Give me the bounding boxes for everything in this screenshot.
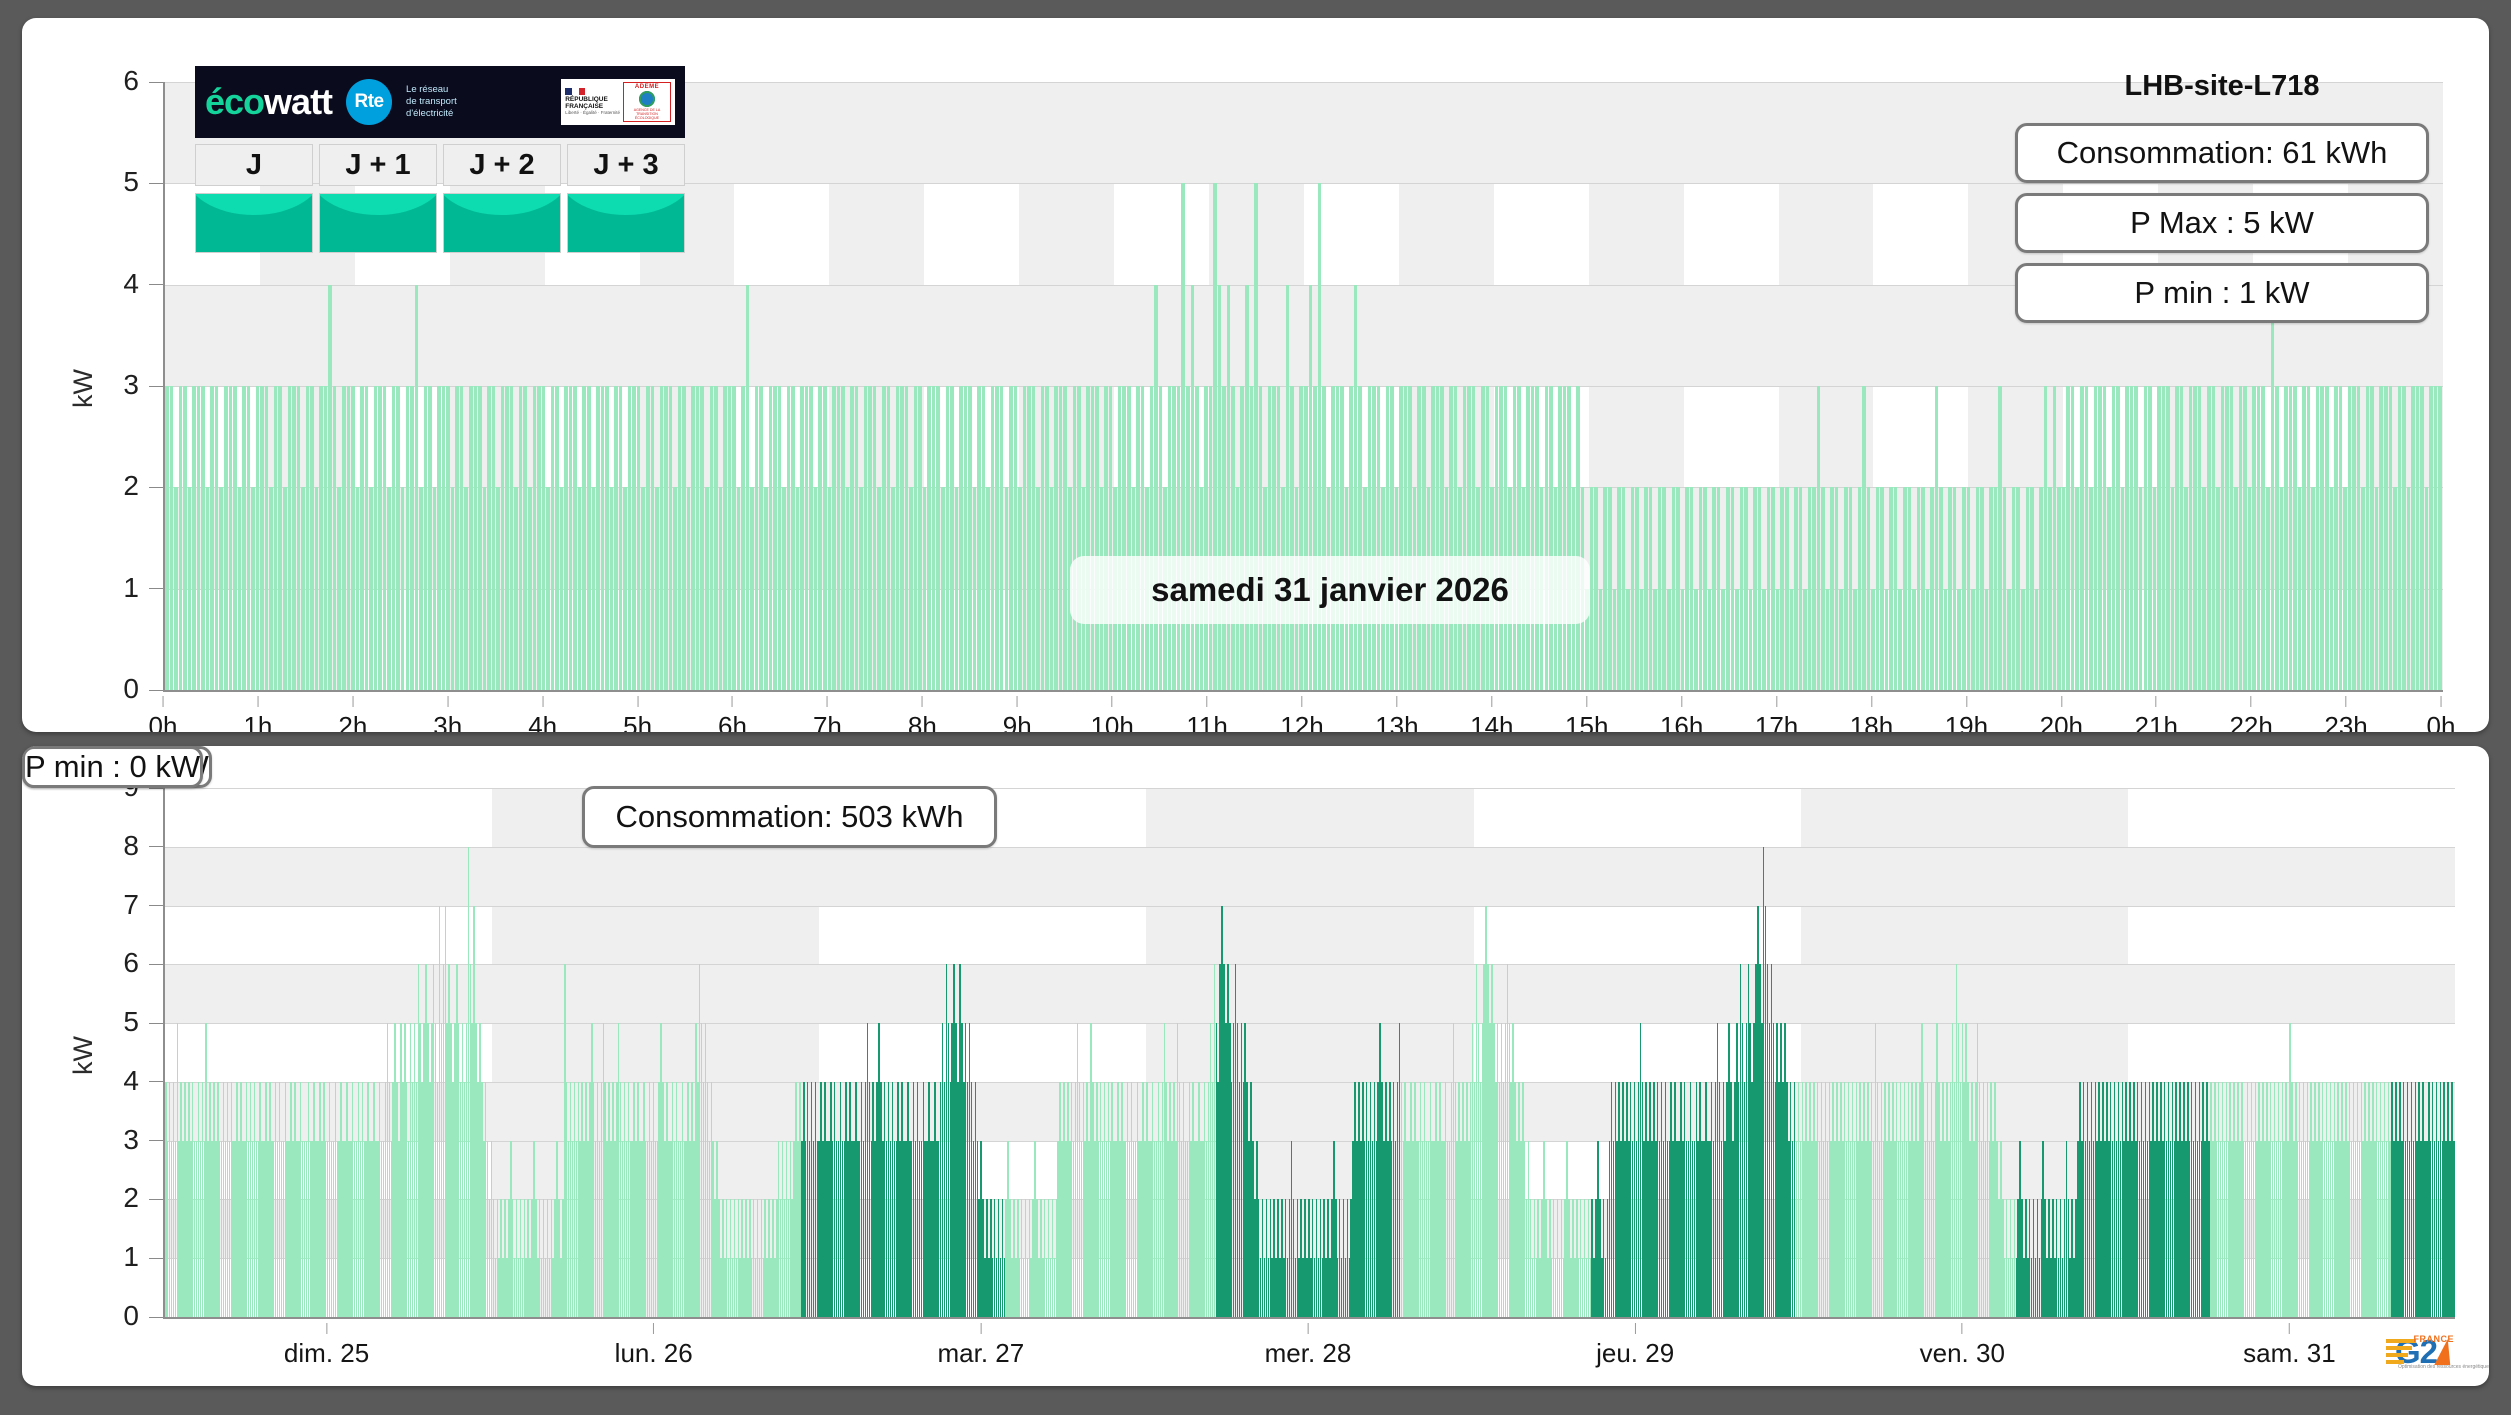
bar xyxy=(1014,386,1018,690)
bar xyxy=(247,386,251,690)
x-tick: 20h xyxy=(2040,696,2083,732)
x-tick-label: 17h xyxy=(1755,711,1798,732)
ecowatt-day-0[interactable]: J xyxy=(195,144,313,253)
bar xyxy=(523,386,527,690)
bar xyxy=(1876,487,1880,690)
republique-francaise-logo: RÉPUBLIQUE FRANÇAISE Liberté · Égalité ·… xyxy=(565,88,620,116)
x-tick-mark xyxy=(2289,1323,2290,1334)
x-tick-mark xyxy=(1871,696,1872,707)
bar xyxy=(623,487,627,690)
bar xyxy=(632,386,636,690)
bar xyxy=(2334,386,2338,690)
bar xyxy=(769,386,773,690)
x-tick-label: 11h xyxy=(1186,711,1227,732)
bar xyxy=(719,487,723,690)
bar xyxy=(1608,487,1612,690)
bar xyxy=(1935,386,1939,690)
ademe-label: ADEME xyxy=(625,84,669,90)
bar xyxy=(1377,386,1381,690)
bar xyxy=(437,386,441,690)
bar xyxy=(2230,386,2234,690)
y-tick-label: 5 xyxy=(123,1008,143,1036)
bar xyxy=(1399,386,1403,690)
bar xyxy=(356,487,360,690)
bar xyxy=(1191,285,1195,690)
bar xyxy=(578,487,582,690)
bar xyxy=(183,386,187,690)
x-tick-label: 21h xyxy=(2135,711,2178,732)
bar xyxy=(1290,386,1294,690)
bar xyxy=(905,386,909,690)
bar xyxy=(700,386,704,690)
bar xyxy=(469,386,473,690)
g2-france-logo[interactable]: G2 FRANCE Optimisation des ressources én… xyxy=(2386,1332,2463,1372)
bar xyxy=(2402,386,2406,690)
bar xyxy=(1467,386,1471,690)
y-tick-mark xyxy=(149,1258,163,1259)
bar xyxy=(269,487,273,690)
top-consommation-box[interactable]: Consommation: 61 kWh xyxy=(2015,123,2429,183)
bar xyxy=(2016,487,2020,690)
bar xyxy=(1635,487,1639,690)
bar xyxy=(1045,386,1049,690)
bar xyxy=(859,487,863,690)
bar xyxy=(1218,285,1222,690)
bar xyxy=(1313,386,1317,690)
bar xyxy=(2330,487,2334,690)
y-tick-label: 0 xyxy=(123,1302,143,1330)
ecowatt-banner: écowatt Rte Le réseau de transport d'éle… xyxy=(195,66,685,138)
bar xyxy=(1735,589,1739,690)
bar xyxy=(1694,589,1698,690)
bar xyxy=(206,487,210,690)
bar xyxy=(877,487,881,690)
bar xyxy=(682,386,686,690)
bar xyxy=(514,487,518,690)
bar xyxy=(1449,386,1453,690)
bar xyxy=(687,487,691,690)
ecowatt-day-label: J xyxy=(195,144,313,186)
bar xyxy=(973,487,977,690)
x-tick-mark xyxy=(1491,696,1492,707)
x-axis-top: 0h1h2h3h4h5h6h7h8h9h10h11h12h13h14h15h16… xyxy=(163,696,2441,732)
bar xyxy=(1603,487,1607,690)
bar xyxy=(2411,386,2415,690)
x-tick-mark xyxy=(1966,696,1967,707)
bar xyxy=(365,386,369,690)
bar xyxy=(1417,386,1421,690)
bar xyxy=(378,386,382,690)
ecowatt-logo-watt: watt xyxy=(264,81,332,122)
x-tick: 3h xyxy=(433,696,462,732)
bar xyxy=(1744,487,1748,690)
bar xyxy=(2325,386,2329,690)
bar xyxy=(474,386,478,690)
bar xyxy=(619,386,623,690)
bar xyxy=(219,487,223,690)
bar xyxy=(1953,487,1957,690)
bar xyxy=(1644,487,1648,690)
x-tick: ven. 30 xyxy=(1920,1323,2005,1369)
bar xyxy=(1268,386,1272,690)
y-tick-label: 6 xyxy=(123,67,143,95)
bar xyxy=(360,386,364,690)
top-pmax-box[interactable]: P Max : 5 kW xyxy=(2015,193,2429,253)
bar xyxy=(1858,487,1862,690)
bar xyxy=(1018,487,1022,690)
x-tick-mark xyxy=(2156,696,2157,707)
bar xyxy=(2202,487,2206,690)
bar xyxy=(669,386,673,690)
bar xyxy=(1172,386,1176,690)
bar xyxy=(1658,487,1662,690)
bar xyxy=(555,386,559,690)
bar xyxy=(2193,386,2197,690)
bar xyxy=(2107,487,2111,690)
bar xyxy=(678,386,682,690)
x-tick: 5h xyxy=(623,696,652,732)
x-tick-mark xyxy=(980,1323,981,1334)
bar xyxy=(900,386,904,690)
x-tick-label: mer. 28 xyxy=(1265,1338,1352,1369)
bar xyxy=(1835,487,1839,690)
bar xyxy=(573,386,577,690)
x-tick-label: 20h xyxy=(2040,711,2083,732)
x-tick: 0h xyxy=(2427,696,2456,732)
bar xyxy=(1077,386,1081,690)
bar xyxy=(460,386,464,690)
bar xyxy=(560,487,564,690)
bar xyxy=(1431,386,1435,690)
x-tick-mark xyxy=(637,696,638,707)
bar xyxy=(601,386,605,690)
top-pmin-box[interactable]: P min : 1 kW xyxy=(2015,263,2429,323)
bar xyxy=(1204,386,1208,690)
bar xyxy=(1640,589,1644,690)
bar xyxy=(1118,386,1122,690)
bar xyxy=(1486,386,1490,690)
bar xyxy=(1073,386,1077,690)
bar xyxy=(1826,589,1830,690)
bar xyxy=(1386,386,1390,690)
bar xyxy=(1558,386,1562,690)
ecowatt-day-3[interactable]: J + 3 xyxy=(567,144,685,253)
bar xyxy=(2453,1141,2455,1317)
bar xyxy=(723,386,727,690)
ecowatt-day-1[interactable]: J + 1 xyxy=(319,144,437,253)
bar xyxy=(1803,589,1807,690)
bar xyxy=(977,386,981,690)
bar xyxy=(896,386,900,690)
bar xyxy=(306,386,310,690)
bar xyxy=(424,386,428,690)
bar xyxy=(2352,386,2356,690)
ecowatt-day-label: J + 2 xyxy=(443,144,561,186)
y-tick-mark xyxy=(149,1317,163,1318)
bar xyxy=(1286,285,1290,690)
bar xyxy=(1762,589,1766,690)
y-tick-label: 2 xyxy=(123,472,143,500)
ecowatt-day-label: J + 1 xyxy=(319,144,437,186)
x-tick-mark xyxy=(1396,696,1397,707)
x-tick-mark xyxy=(162,696,163,707)
bar xyxy=(846,487,850,690)
x-tick-label: 3h xyxy=(433,711,462,732)
bar xyxy=(1322,386,1326,690)
bar xyxy=(428,386,432,690)
bar xyxy=(2307,386,2311,690)
bar xyxy=(2271,285,2275,690)
bar xyxy=(1354,285,1358,690)
bar xyxy=(1799,487,1803,690)
bar xyxy=(2438,386,2442,690)
bar xyxy=(2139,487,2143,690)
bar xyxy=(1027,386,1031,690)
bar xyxy=(592,487,596,690)
bar xyxy=(2384,386,2388,690)
bar xyxy=(1209,386,1213,690)
x-tick-label: mar. 27 xyxy=(937,1338,1024,1369)
y-tick-mark xyxy=(149,1140,163,1141)
bar xyxy=(1227,285,1231,690)
bar xyxy=(1023,386,1027,690)
bar xyxy=(1957,589,1961,690)
bar xyxy=(1091,386,1095,690)
bar xyxy=(2044,386,2048,690)
bar xyxy=(2393,487,2397,690)
bar xyxy=(2311,487,2315,690)
bar xyxy=(1681,589,1685,690)
bar xyxy=(1331,386,1335,690)
bar xyxy=(746,285,750,690)
bar xyxy=(1349,386,1353,690)
dashboard-page: kW 0123456 0h1h2h3h4h5h6h7h8h9h10h11h12h… xyxy=(0,0,2511,1415)
bar xyxy=(347,386,351,690)
bar xyxy=(1708,589,1712,690)
bar xyxy=(1726,487,1730,690)
y-axis-top: 0123456 xyxy=(63,82,163,690)
bar xyxy=(2007,589,2011,690)
x-tick-mark xyxy=(653,1323,654,1334)
bar xyxy=(410,386,414,690)
bar xyxy=(1390,386,1394,690)
bar xyxy=(1177,386,1181,690)
bar xyxy=(1168,386,1172,690)
bar xyxy=(1159,386,1163,690)
x-tick-label: 10h xyxy=(1090,711,1133,732)
republique-line1: RÉPUBLIQUE xyxy=(565,96,620,103)
bar xyxy=(2216,487,2220,690)
bar xyxy=(2275,386,2279,690)
y-tick-mark xyxy=(149,82,163,83)
bar xyxy=(914,386,918,690)
bar xyxy=(2130,386,2134,690)
x-tick: 17h xyxy=(1755,696,1798,732)
bar xyxy=(1626,589,1630,690)
bar xyxy=(451,487,455,690)
ademe-logo: ADEME AGENCE DE LA TRANSITION ÉCOLOGIQUE xyxy=(623,82,671,123)
bar xyxy=(2166,386,2170,690)
bar xyxy=(946,386,950,690)
bar xyxy=(1903,487,1907,690)
y-tick-label: 2 xyxy=(123,1184,143,1212)
bar xyxy=(1794,487,1798,690)
x-tick: 19h xyxy=(1945,696,1988,732)
bar xyxy=(2098,386,2102,690)
y-tick-label: 5 xyxy=(123,168,143,196)
y-axis-bottom: 0123456789 xyxy=(63,788,163,1317)
date-badge[interactable]: samedi 31 janvier 2026 xyxy=(1070,556,1590,624)
x-tick: 7h xyxy=(813,696,842,732)
bar xyxy=(1590,487,1594,690)
bar xyxy=(2003,487,2007,690)
ecowatt-day-2[interactable]: J + 2 xyxy=(443,144,561,253)
bar xyxy=(968,386,972,690)
bar xyxy=(505,386,509,690)
bar xyxy=(1917,487,1921,690)
bar xyxy=(837,386,841,690)
bar xyxy=(1517,386,1521,690)
bar xyxy=(2171,487,2175,690)
bar xyxy=(2243,386,2247,690)
bar xyxy=(2012,487,2016,690)
bar xyxy=(1513,386,1517,690)
x-tick: dim. 25 xyxy=(284,1323,369,1369)
x-tick-label: sam. 31 xyxy=(2243,1338,2336,1369)
bar xyxy=(179,386,183,690)
bar xyxy=(1662,487,1666,690)
bar xyxy=(2348,386,2352,690)
y-tick-label: 4 xyxy=(123,270,143,298)
bar xyxy=(1985,589,1989,690)
x-tick-label: ven. 30 xyxy=(1920,1338,2005,1369)
x-tick-label: dim. 25 xyxy=(284,1338,369,1369)
x-tick-mark xyxy=(1776,696,1777,707)
x-tick: 2h xyxy=(338,696,367,732)
x-tick: 15h xyxy=(1565,696,1608,732)
bar xyxy=(582,386,586,690)
bar xyxy=(2075,487,2079,690)
bar xyxy=(1885,589,1889,690)
y-tick-mark xyxy=(149,284,163,285)
bar xyxy=(2366,386,2370,690)
x-tick: 18h xyxy=(1850,696,1893,732)
x-tick: 0h xyxy=(149,696,178,732)
x-tick-label: 12h xyxy=(1280,711,1323,732)
bar xyxy=(197,386,201,690)
bar xyxy=(955,487,959,690)
bar xyxy=(2212,386,2216,690)
bar xyxy=(873,386,877,690)
x-tick-label: 8h xyxy=(908,711,937,732)
bar xyxy=(710,386,714,690)
bar xyxy=(165,386,169,690)
x-tick-mark xyxy=(1586,696,1587,707)
bar xyxy=(655,487,659,690)
bar xyxy=(1758,487,1762,690)
bar xyxy=(2316,386,2320,690)
y-tick-mark xyxy=(149,183,163,184)
bar xyxy=(1086,386,1090,690)
bar xyxy=(1717,487,1721,690)
bar xyxy=(587,386,591,690)
bar xyxy=(2239,386,2243,690)
bar xyxy=(569,386,573,690)
bar xyxy=(1567,386,1571,690)
x-tick-mark xyxy=(2061,696,2062,707)
bottom-consommation-box[interactable]: Consommation: 503 kWh xyxy=(582,786,997,848)
bar xyxy=(1535,386,1539,690)
x-tick: 11h xyxy=(1186,696,1227,732)
x-tick: mer. 28 xyxy=(1265,1323,1352,1369)
bar xyxy=(2420,386,2424,690)
bar xyxy=(1127,386,1131,690)
bottom-pmin-box[interactable]: P min : 0 kW xyxy=(22,746,203,788)
y-tick-label: 7 xyxy=(123,891,143,919)
daily-load-chart: kW 0123456 0h1h2h3h4h5h6h7h8h9h10h11h12h… xyxy=(22,18,2489,732)
bar xyxy=(696,386,700,690)
bar xyxy=(2407,487,2411,690)
bar xyxy=(778,386,782,690)
bar xyxy=(1712,487,1716,690)
bar xyxy=(210,386,214,690)
bar xyxy=(1908,487,1912,690)
bar xyxy=(1785,487,1789,690)
ecowatt-signal-icon xyxy=(319,193,437,253)
bar xyxy=(501,386,505,690)
bar xyxy=(1921,487,1925,690)
bar xyxy=(2030,487,2034,690)
bar xyxy=(1404,386,1408,690)
bar xyxy=(2144,386,2148,690)
x-tick-label: 23h xyxy=(2324,711,2367,732)
x-tick-label: 2h xyxy=(338,711,367,732)
ecowatt-widget[interactable]: écowatt Rte Le réseau de transport d'éle… xyxy=(195,66,685,253)
bar xyxy=(787,386,791,690)
bar xyxy=(2121,487,2125,690)
bar xyxy=(2257,386,2261,690)
bar xyxy=(238,487,242,690)
bar xyxy=(1005,487,1009,690)
bar xyxy=(260,386,264,690)
bar xyxy=(1930,487,1934,690)
x-tick-label: 0h xyxy=(149,711,178,732)
bar xyxy=(1245,285,1249,690)
x-tick-mark xyxy=(1681,696,1682,707)
bar xyxy=(1454,386,1458,690)
bar xyxy=(383,386,387,690)
bar xyxy=(1998,386,2002,690)
bar xyxy=(673,487,677,690)
bar xyxy=(959,386,963,690)
bar xyxy=(1939,487,1943,690)
bar xyxy=(1622,487,1626,690)
bar xyxy=(1821,487,1825,690)
bar xyxy=(2094,386,2098,690)
bar xyxy=(1649,487,1653,690)
bar xyxy=(2180,386,2184,690)
bar xyxy=(2062,487,2066,690)
bar xyxy=(841,386,845,690)
bar xyxy=(1495,386,1499,690)
bar xyxy=(2221,386,2225,690)
bar xyxy=(1472,386,1476,690)
bar xyxy=(446,386,450,690)
x-tick: jeu. 29 xyxy=(1596,1323,1674,1369)
bar xyxy=(2370,386,2374,690)
bar xyxy=(1780,487,1784,690)
bar xyxy=(2429,386,2433,690)
